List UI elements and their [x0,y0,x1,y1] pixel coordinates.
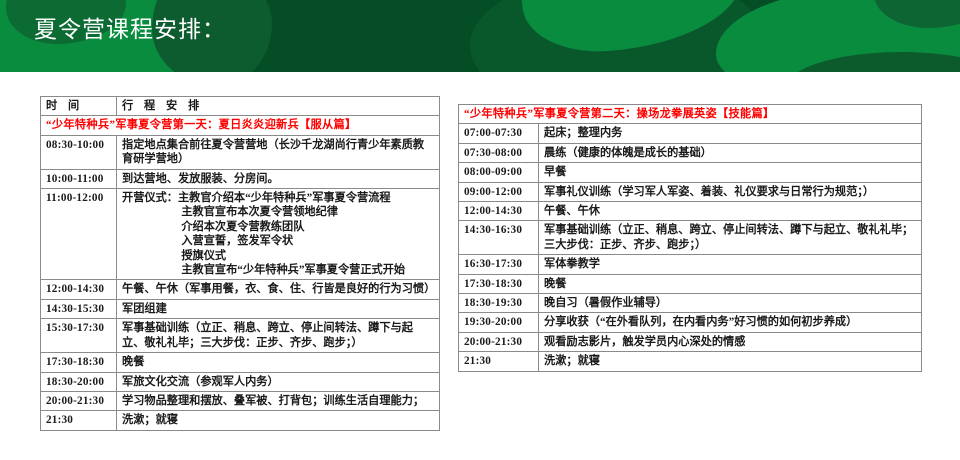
table-row: 07:00-07:30起床；整理内务 [459,124,922,143]
table-row: 15:30-17:30军事基础训练（立正、稍息、跨立、停止间转法、蹲下与起立、敬… [41,319,440,353]
column-header-time: 时 间 [41,97,117,116]
table-row: 16:30-17:30军体拳教学 [459,255,922,274]
table-row: 12:00-14:30午餐、午休（军事用餐，衣、食、住、行皆是良好的行为习惯） [41,280,440,299]
cell-schedule: 午餐、午休 [539,202,922,221]
schedule-line: 军事基础训练（立正、稍息、跨立、停止间转法、蹲下与起立、敬礼礼毕；三大步伐：正步… [122,321,434,350]
cell-schedule: 洗漱；就寝 [117,411,440,430]
schedule-rows-day2: 07:00-07:30起床；整理内务07:30-08:00晨练（健康的体魄是成长… [459,124,922,371]
table-row: 21:30洗漱；就寝 [41,411,440,430]
schedule-line: 军事礼仪训练（学习军人军姿、着装、礼仪要求与日常行为规范；） [544,185,916,199]
cell-schedule: 到达营地、发放服装、分房间。 [117,169,440,188]
table-row: 20:00-21:30学习物品整理和摆放、叠军被、打背包；训练生活自理能力； [41,391,440,410]
cell-time: 18:30-20:00 [41,372,117,391]
table-row: 11:00-12:00开营仪式：主教官介绍本“少年特种兵”军事夏令营流程主教官宣… [41,189,440,280]
day-title-row: “少年特种兵”军事夏令营第一天：夏日炎炎迎新兵【服从篇】 [41,116,440,135]
page-title: 夏令营课程安排： [34,13,226,45]
cell-time: 08:00-09:00 [459,163,539,182]
cell-time: 08:30-10:00 [41,135,117,169]
cell-schedule: 指定地点集合前往夏令营营地（长沙千龙湖尚行青少年素质教育研学营地） [117,135,440,169]
schedule-line: 午餐、午休 [544,204,916,218]
schedule-table-day1: 时 间 行 程 安 排 “少年特种兵”军事夏令营第一天：夏日炎炎迎新兵【服从篇】… [40,96,440,431]
schedule-line: 介绍本次夏令营教练团队 [122,220,434,234]
schedule-line: 晨练（健康的体魄是成长的基础） [544,146,916,160]
header-banner: 夏令营课程安排： [0,0,960,72]
cell-schedule: 午餐、午休（军事用餐，衣、食、住、行皆是良好的行为习惯） [117,280,440,299]
cell-schedule: 军团组建 [117,299,440,318]
page-root: 夏令营课程安排： 时 间 行 程 安 排 “少年特种兵”军事夏令营第一天：夏日炎… [0,0,960,460]
schedule-line: 晚餐 [122,355,434,369]
schedule-line: 到达营地、发放服装、分房间。 [122,172,434,186]
cell-schedule: 晚餐 [117,353,440,372]
table-row: 14:30-16:30军事基础训练（立正、稍息、跨立、停止间转法、蹲下与起立、敬… [459,221,922,255]
table-row: 21:30洗漱；就寝 [459,352,922,371]
cell-time: 20:00-21:30 [459,332,539,351]
table-header-row: 时 间 行 程 安 排 [41,97,440,116]
cell-schedule: 学习物品整理和摆放、叠军被、打背包；训练生活自理能力； [117,391,440,410]
schedule-line: 主教官宣布“少年特种兵”军事夏令营正式开始 [122,263,434,277]
table-row: 18:30-19:30晚自习（暑假作业辅导） [459,294,922,313]
cell-time: 17:30-18:30 [459,274,539,293]
schedule-line: 午餐、午休（军事用餐，衣、食、住、行皆是良好的行为习惯） [122,282,434,296]
table-row: 17:30-18:30晚餐 [459,274,922,293]
cell-time: 17:30-18:30 [41,353,117,372]
cell-time: 11:00-12:00 [41,189,117,280]
schedule-line: 洗漱；就寝 [122,413,434,427]
cell-schedule: 观看励志影片，触发学员内心深处的情感 [539,332,922,351]
schedule-line: 主教官宣布本次夏令营领地纪律 [122,205,434,219]
cell-schedule: 早餐 [539,163,922,182]
schedule-body-day1: “少年特种兵”军事夏令营第一天：夏日炎炎迎新兵【服从篇】 [41,116,440,135]
schedule-line: 洗漱；就寝 [544,354,916,368]
cell-time: 16:30-17:30 [459,255,539,274]
table-row: 19:30-20:00分享收获（“在外看队列，在内看内务”好习惯的如何初步养成） [459,313,922,332]
table-row: 14:30-15:30军团组建 [41,299,440,318]
cell-time: 12:00-14:30 [41,280,117,299]
schedule-line: 军事基础训练（立正、稍息、跨立、停止间转法、蹲下与起立、敬礼礼毕；三大步伐：正步… [544,223,916,252]
schedule-line: 指定地点集合前往夏令营营地（长沙千龙湖尚行青少年素质教育研学营地） [122,138,434,167]
table-row: 12:00-14:30午餐、午休 [459,202,922,221]
schedule-rows-day1: 08:30-10:00指定地点集合前往夏令营营地（长沙千龙湖尚行青少年素质教育研… [41,135,440,430]
cell-time: 10:00-11:00 [41,169,117,188]
day-title-row: “少年特种兵”军事夏令营第二天：操场龙拳展英姿【技能篇】 [459,105,922,124]
cell-schedule: 起床；整理内务 [539,124,922,143]
schedule-line: 早餐 [544,165,916,179]
cell-time: 07:30-08:00 [459,143,539,162]
cell-schedule: 军事基础训练（立正、稍息、跨立、停止间转法、蹲下与起立、敬礼礼毕；三大步伐：正步… [539,221,922,255]
cell-time: 19:30-20:00 [459,313,539,332]
schedule-line: 起床；整理内务 [544,126,916,140]
cell-time: 07:00-07:30 [459,124,539,143]
cell-schedule: 军事基础训练（立正、稍息、跨立、停止间转法、蹲下与起立、敬礼礼毕；三大步伐：正步… [117,319,440,353]
cell-time: 14:30-16:30 [459,221,539,255]
table-row: 17:30-18:30晚餐 [41,353,440,372]
cell-schedule: 军体拳教学 [539,255,922,274]
schedule-line: 晚自习（暑假作业辅导） [544,296,916,310]
schedule-line: 学习物品整理和摆放、叠军被、打背包；训练生活自理能力； [122,394,434,408]
table-row: 09:00-12:00军事礼仪训练（学习军人军姿、着装、礼仪要求与日常行为规范；… [459,182,922,201]
table-row: 07:30-08:00晨练（健康的体魄是成长的基础） [459,143,922,162]
schedule-line: 入营宣誓，签发军令状 [122,234,434,248]
cell-time: 21:30 [459,352,539,371]
cell-schedule: 洗漱；就寝 [539,352,922,371]
table-row: 20:00-21:30观看励志影片，触发学员内心深处的情感 [459,332,922,351]
cell-time: 12:00-14:30 [459,202,539,221]
cell-time: 20:00-21:30 [41,391,117,410]
cell-schedule: 军事礼仪训练（学习军人军姿、着装、礼仪要求与日常行为规范；） [539,182,922,201]
schedule-line: 晚餐 [544,277,916,291]
table-row: 08:30-10:00指定地点集合前往夏令营营地（长沙千龙湖尚行青少年素质教育研… [41,135,440,169]
cell-schedule: 分享收获（“在外看队列，在内看内务”好习惯的如何初步养成） [539,313,922,332]
cell-schedule: 晨练（健康的体魄是成长的基础） [539,143,922,162]
cell-schedule: 晚餐 [539,274,922,293]
schedule-table-day2: “少年特种兵”军事夏令营第二天：操场龙拳展英姿【技能篇】 07:00-07:30… [458,104,922,372]
cell-time: 09:00-12:00 [459,182,539,201]
cell-schedule: 开营仪式：主教官介绍本“少年特种兵”军事夏令营流程主教官宣布本次夏令营领地纪律介… [117,189,440,280]
cell-schedule: 晚自习（暑假作业辅导） [539,294,922,313]
schedule-line: 军团组建 [122,302,434,316]
schedule-line: 观看励志影片，触发学员内心深处的情感 [544,335,916,349]
schedule-line: 军旅文化交流（参观军人内务） [122,375,434,389]
day1-title: “少年特种兵”军事夏令营第一天：夏日炎炎迎新兵【服从篇】 [41,116,440,135]
schedule-body-day2: “少年特种兵”军事夏令营第二天：操场龙拳展英姿【技能篇】 [459,105,922,124]
schedule-line: 授旗仪式 [122,249,434,263]
cell-schedule: 军旅文化交流（参观军人内务） [117,372,440,391]
day2-title: “少年特种兵”军事夏令营第二天：操场龙拳展英姿【技能篇】 [459,105,922,124]
cell-time: 21:30 [41,411,117,430]
table-row: 08:00-09:00早餐 [459,163,922,182]
table-row: 10:00-11:00到达营地、发放服装、分房间。 [41,169,440,188]
cell-time: 18:30-19:30 [459,294,539,313]
schedule-line: 分享收获（“在外看队列，在内看内务”好习惯的如何初步养成） [544,315,916,329]
schedule-line: 开营仪式：主教官介绍本“少年特种兵”军事夏令营流程 [122,191,434,205]
table-row: 18:30-20:00军旅文化交流（参观军人内务） [41,372,440,391]
cell-time: 15:30-17:30 [41,319,117,353]
schedule-line: 军体拳教学 [544,257,916,271]
column-header-schedule: 行 程 安 排 [117,97,440,116]
cell-time: 14:30-15:30 [41,299,117,318]
